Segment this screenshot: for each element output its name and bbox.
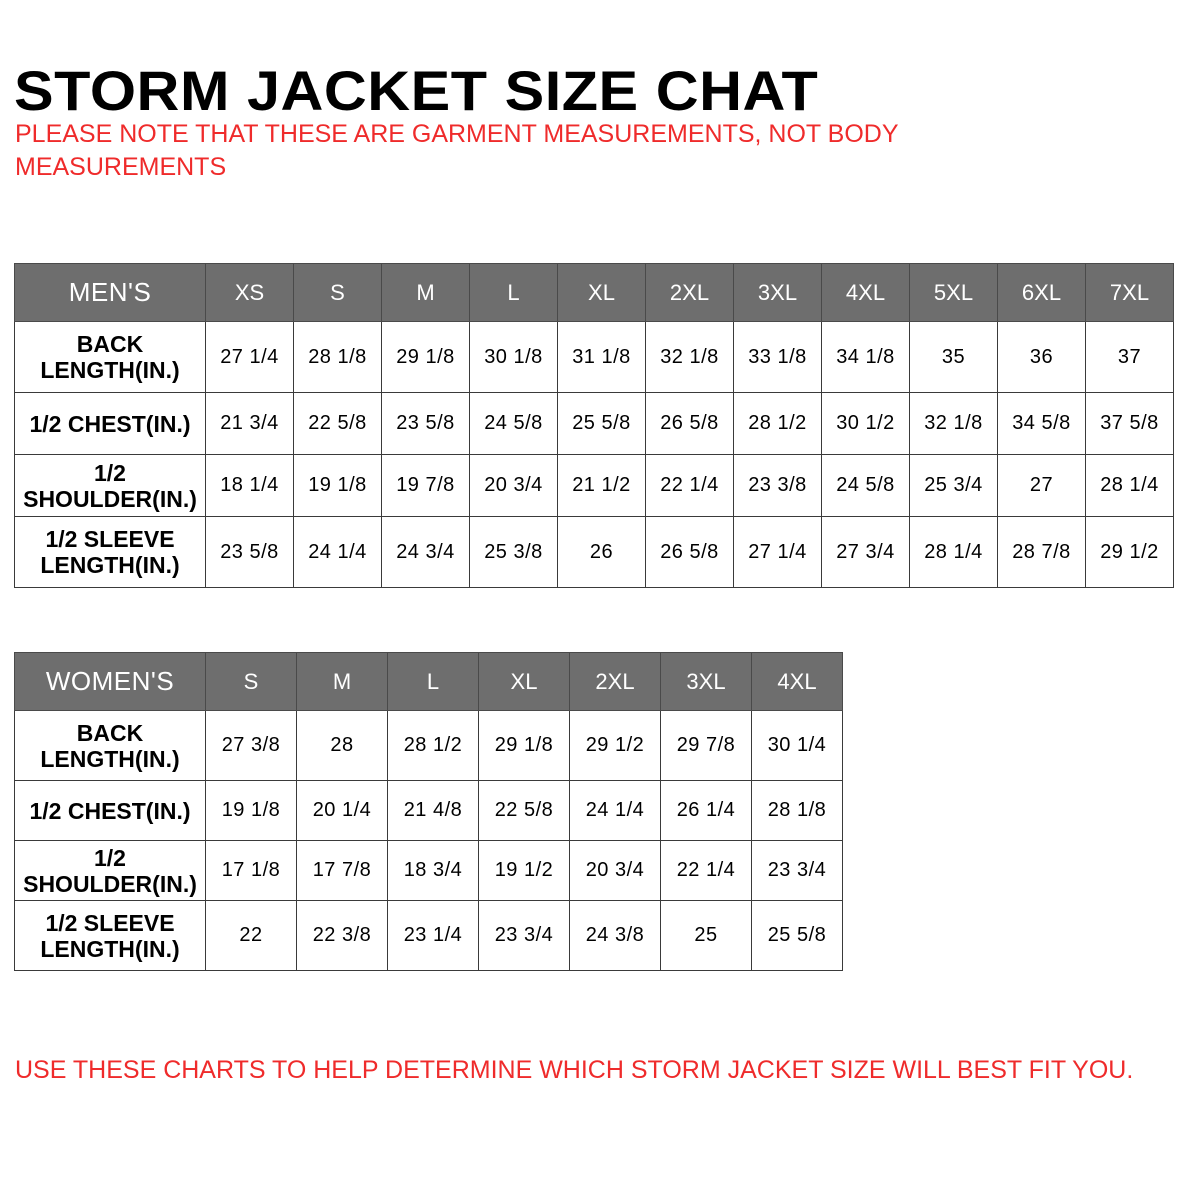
womens-row-label: 1/2 SHOULDER(IN.) [15, 841, 206, 901]
womens-cell: 23 1/4 [388, 901, 479, 971]
womens-size-header-m: M [297, 653, 388, 711]
womens-cell: 28 1/8 [752, 781, 843, 841]
mens-cell: 26 [558, 517, 646, 588]
mens-size-header-xl: XL [558, 264, 646, 322]
womens-size-table: WOMEN'S SMLXL2XL3XL4XL BACKLENGTH(IN.)27… [14, 652, 843, 971]
mens-cell: 27 [998, 455, 1086, 517]
womens-cell: 24 3/8 [570, 901, 661, 971]
mens-cell: 28 1/4 [910, 517, 998, 588]
mens-row-label: 1/2 SLEEVELENGTH(IN.) [15, 517, 206, 588]
mens-cell: 24 5/8 [822, 455, 910, 517]
mens-size-header-3xl: 3XL [734, 264, 822, 322]
mens-size-table-container: MEN'S XSSMLXL2XL3XL4XL5XL6XL7XL BACKLENG… [14, 263, 1174, 588]
table-row: 1/2 SHOULDER(IN.)17 1/817 7/818 3/419 1/… [15, 841, 843, 901]
mens-cell: 25 5/8 [558, 393, 646, 455]
mens-size-header-6xl: 6XL [998, 264, 1086, 322]
womens-cell: 24 1/4 [570, 781, 661, 841]
mens-cell: 20 3/4 [470, 455, 558, 517]
womens-cell: 19 1/8 [206, 781, 297, 841]
womens-cell: 21 4/8 [388, 781, 479, 841]
womens-cell: 25 5/8 [752, 901, 843, 971]
table-row: 1/2 CHEST(IN.)21 3/422 5/823 5/824 5/825… [15, 393, 1174, 455]
footer-note: USE THESE CHARTS TO HELP DETERMINE WHICH… [15, 1055, 1133, 1085]
mens-cell: 29 1/2 [1086, 517, 1174, 588]
mens-cell: 34 1/8 [822, 322, 910, 393]
mens-cell: 32 1/8 [646, 322, 734, 393]
womens-cell: 29 1/8 [479, 711, 570, 781]
womens-table-header: WOMEN'S SMLXL2XL3XL4XL [15, 653, 843, 711]
mens-table-body: BACKLENGTH(IN.)27 1/428 1/829 1/830 1/83… [15, 322, 1174, 588]
mens-cell: 23 3/8 [734, 455, 822, 517]
womens-cell: 29 7/8 [661, 711, 752, 781]
mens-cell: 34 5/8 [998, 393, 1086, 455]
womens-cell: 23 3/4 [752, 841, 843, 901]
mens-cell: 26 5/8 [646, 393, 734, 455]
womens-cell: 22 5/8 [479, 781, 570, 841]
mens-cell: 24 3/4 [382, 517, 470, 588]
womens-cell: 17 7/8 [297, 841, 388, 901]
mens-cell: 23 5/8 [382, 393, 470, 455]
size-chart-page: STORM JACKET SIZE CHAT PLEASE NOTE THAT … [0, 0, 1200, 1200]
mens-size-header-xs: XS [206, 264, 294, 322]
womens-cell: 22 3/8 [297, 901, 388, 971]
womens-cell: 25 [661, 901, 752, 971]
mens-corner-label: MEN'S [15, 264, 206, 322]
womens-table-body: BACKLENGTH(IN.)27 3/82828 1/229 1/829 1/… [15, 711, 843, 971]
mens-cell: 27 3/4 [822, 517, 910, 588]
mens-cell: 28 7/8 [998, 517, 1086, 588]
womens-cell: 28 1/2 [388, 711, 479, 781]
mens-size-header-m: M [382, 264, 470, 322]
womens-cell: 22 1/4 [661, 841, 752, 901]
mens-cell: 37 5/8 [1086, 393, 1174, 455]
womens-size-header-3xl: 3XL [661, 653, 752, 711]
mens-cell: 22 5/8 [294, 393, 382, 455]
table-row: 1/2 SHOULDER(IN.)18 1/419 1/819 7/820 3/… [15, 455, 1174, 517]
womens-size-header-xl: XL [479, 653, 570, 711]
mens-cell: 21 1/2 [558, 455, 646, 517]
mens-cell: 24 5/8 [470, 393, 558, 455]
womens-row-label: BACKLENGTH(IN.) [15, 711, 206, 781]
mens-cell: 37 [1086, 322, 1174, 393]
womens-cell: 18 3/4 [388, 841, 479, 901]
table-row: 1/2 SLEEVELENGTH(IN.)23 5/824 1/424 3/42… [15, 517, 1174, 588]
womens-size-header-4xl: 4XL [752, 653, 843, 711]
womens-cell: 29 1/2 [570, 711, 661, 781]
mens-size-header-4xl: 4XL [822, 264, 910, 322]
mens-cell: 31 1/8 [558, 322, 646, 393]
mens-row-label: BACKLENGTH(IN.) [15, 322, 206, 393]
womens-cell: 26 1/4 [661, 781, 752, 841]
table-row: 1/2 CHEST(IN.)19 1/820 1/421 4/822 5/824… [15, 781, 843, 841]
mens-cell: 26 5/8 [646, 517, 734, 588]
womens-size-header-l: L [388, 653, 479, 711]
table-row: BACKLENGTH(IN.)27 1/428 1/829 1/830 1/83… [15, 322, 1174, 393]
table-row: 1/2 SLEEVELENGTH(IN.)2222 3/823 1/423 3/… [15, 901, 843, 971]
mens-cell: 35 [910, 322, 998, 393]
mens-size-table: MEN'S XSSMLXL2XL3XL4XL5XL6XL7XL BACKLENG… [14, 263, 1174, 588]
mens-cell: 24 1/4 [294, 517, 382, 588]
womens-cell: 27 3/8 [206, 711, 297, 781]
mens-cell: 28 1/4 [1086, 455, 1174, 517]
womens-corner-label: WOMEN'S [15, 653, 206, 711]
mens-cell: 33 1/8 [734, 322, 822, 393]
womens-size-table-container: WOMEN'S SMLXL2XL3XL4XL BACKLENGTH(IN.)27… [14, 652, 843, 971]
table-row: BACKLENGTH(IN.)27 3/82828 1/229 1/829 1/… [15, 711, 843, 781]
womens-cell: 17 1/8 [206, 841, 297, 901]
womens-cell: 28 [297, 711, 388, 781]
mens-cell: 29 1/8 [382, 322, 470, 393]
womens-cell: 19 1/2 [479, 841, 570, 901]
mens-cell: 30 1/8 [470, 322, 558, 393]
mens-header-row: MEN'S XSSMLXL2XL3XL4XL5XL6XL7XL [15, 264, 1174, 322]
mens-table-header: MEN'S XSSMLXL2XL3XL4XL5XL6XL7XL [15, 264, 1174, 322]
mens-cell: 21 3/4 [206, 393, 294, 455]
page-title: STORM JACKET SIZE CHAT [14, 60, 818, 122]
womens-row-label: 1/2 SLEEVELENGTH(IN.) [15, 901, 206, 971]
mens-size-header-2xl: 2XL [646, 264, 734, 322]
womens-cell: 23 3/4 [479, 901, 570, 971]
mens-cell: 25 3/8 [470, 517, 558, 588]
womens-cell: 20 1/4 [297, 781, 388, 841]
mens-cell: 28 1/2 [734, 393, 822, 455]
mens-cell: 36 [998, 322, 1086, 393]
womens-header-row: WOMEN'S SMLXL2XL3XL4XL [15, 653, 843, 711]
womens-cell: 20 3/4 [570, 841, 661, 901]
mens-cell: 28 1/8 [294, 322, 382, 393]
mens-size-header-l: L [470, 264, 558, 322]
womens-cell: 30 1/4 [752, 711, 843, 781]
mens-cell: 22 1/4 [646, 455, 734, 517]
mens-cell: 27 1/4 [206, 322, 294, 393]
mens-size-header-7xl: 7XL [1086, 264, 1174, 322]
mens-cell: 32 1/8 [910, 393, 998, 455]
mens-row-label: 1/2 CHEST(IN.) [15, 393, 206, 455]
mens-cell: 19 1/8 [294, 455, 382, 517]
womens-size-header-2xl: 2XL [570, 653, 661, 711]
mens-cell: 18 1/4 [206, 455, 294, 517]
mens-size-header-5xl: 5XL [910, 264, 998, 322]
womens-size-header-s: S [206, 653, 297, 711]
mens-cell: 19 7/8 [382, 455, 470, 517]
womens-row-label: 1/2 CHEST(IN.) [15, 781, 206, 841]
mens-cell: 30 1/2 [822, 393, 910, 455]
mens-row-label: 1/2 SHOULDER(IN.) [15, 455, 206, 517]
garment-measurement-note: PLEASE NOTE THAT THESE ARE GARMENT MEASU… [15, 118, 1015, 184]
womens-cell: 22 [206, 901, 297, 971]
mens-cell: 23 5/8 [206, 517, 294, 588]
mens-size-header-s: S [294, 264, 382, 322]
mens-cell: 25 3/4 [910, 455, 998, 517]
mens-cell: 27 1/4 [734, 517, 822, 588]
